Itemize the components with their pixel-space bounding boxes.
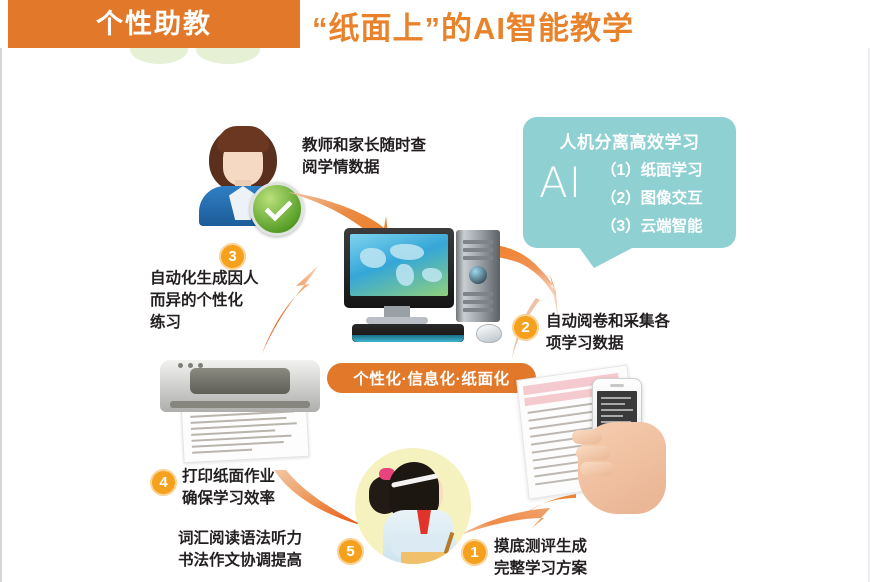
avatar-hair-front: [217, 126, 269, 152]
tower-disc: [469, 266, 487, 284]
monitor-screen: [350, 234, 448, 296]
finger: [580, 462, 614, 476]
printer-output-slot: [170, 401, 310, 408]
step-4-number: 4: [150, 469, 177, 496]
ai-bubble-heading: 人机分离高效学习: [523, 128, 736, 153]
canvas-left-border: [0, 48, 2, 582]
finger: [576, 446, 610, 460]
step-1-number: 1: [461, 539, 488, 566]
printer-tray: [190, 368, 290, 394]
step-3-number: 3: [219, 243, 246, 270]
phone-scanning-document-icon: [520, 372, 710, 522]
teacher-avatar: [195, 122, 291, 224]
keyboard-icon: [352, 324, 464, 342]
step-4-text: 打印纸面作业 确保学习效率: [182, 466, 342, 510]
ai-bubble-tail: [578, 246, 636, 268]
step-1-text: 摸底测评生成 完整学习方案: [494, 536, 654, 580]
teacher-callout-text: 教师和家长随时查 阅学情数据: [302, 135, 482, 179]
ai-acronym: AI: [539, 158, 582, 207]
printer-icon: [160, 360, 320, 460]
center-tagline-pill: 个性化·信息化·纸面化: [327, 363, 536, 393]
student-writing-icon: [355, 448, 471, 564]
desktop-computer-icon: [336, 228, 526, 348]
finger: [572, 430, 602, 444]
monitor-base: [366, 317, 428, 324]
computer-tower: [456, 230, 500, 322]
header-badge: 个性助教: [8, 0, 300, 48]
ai-list-item-3: （3）云端智能: [601, 213, 703, 241]
step-2-text: 自动阅卷和采集各 项学习数据: [546, 311, 726, 355]
phone-speaker: [610, 384, 624, 387]
monitor-body: [344, 228, 454, 308]
ai-bubble-list: （1）纸面学习 （2）图像交互 （3）云端智能: [601, 157, 703, 241]
ai-list-item-2: （2）图像交互: [601, 185, 703, 213]
step-2-number: 2: [512, 314, 539, 341]
step-5-text: 词汇阅读语法听力 书法作文协调提高: [178, 528, 358, 572]
step-3-text: 自动化生成因人 而异的个性化 练习: [150, 268, 300, 334]
mouse-icon: [476, 324, 502, 343]
center-tagline-label: 个性化·信息化·纸面化: [353, 367, 509, 389]
page-title: “纸面上”的AI智能教学: [312, 2, 634, 48]
student-desk: [401, 552, 469, 564]
ai-speech-bubble: 人机分离高效学习 AI （1）纸面学习 （2）图像交互 （3）云端智能: [523, 117, 736, 248]
ai-list-item-1: （1）纸面学习: [601, 157, 703, 185]
header-badge-label: 个性助教: [96, 11, 212, 38]
infographic-canvas: 个性助教 “纸面上”的AI智能教学 教师和家长随时查 阅学情数据 人机分离高效学…: [0, 0, 870, 582]
